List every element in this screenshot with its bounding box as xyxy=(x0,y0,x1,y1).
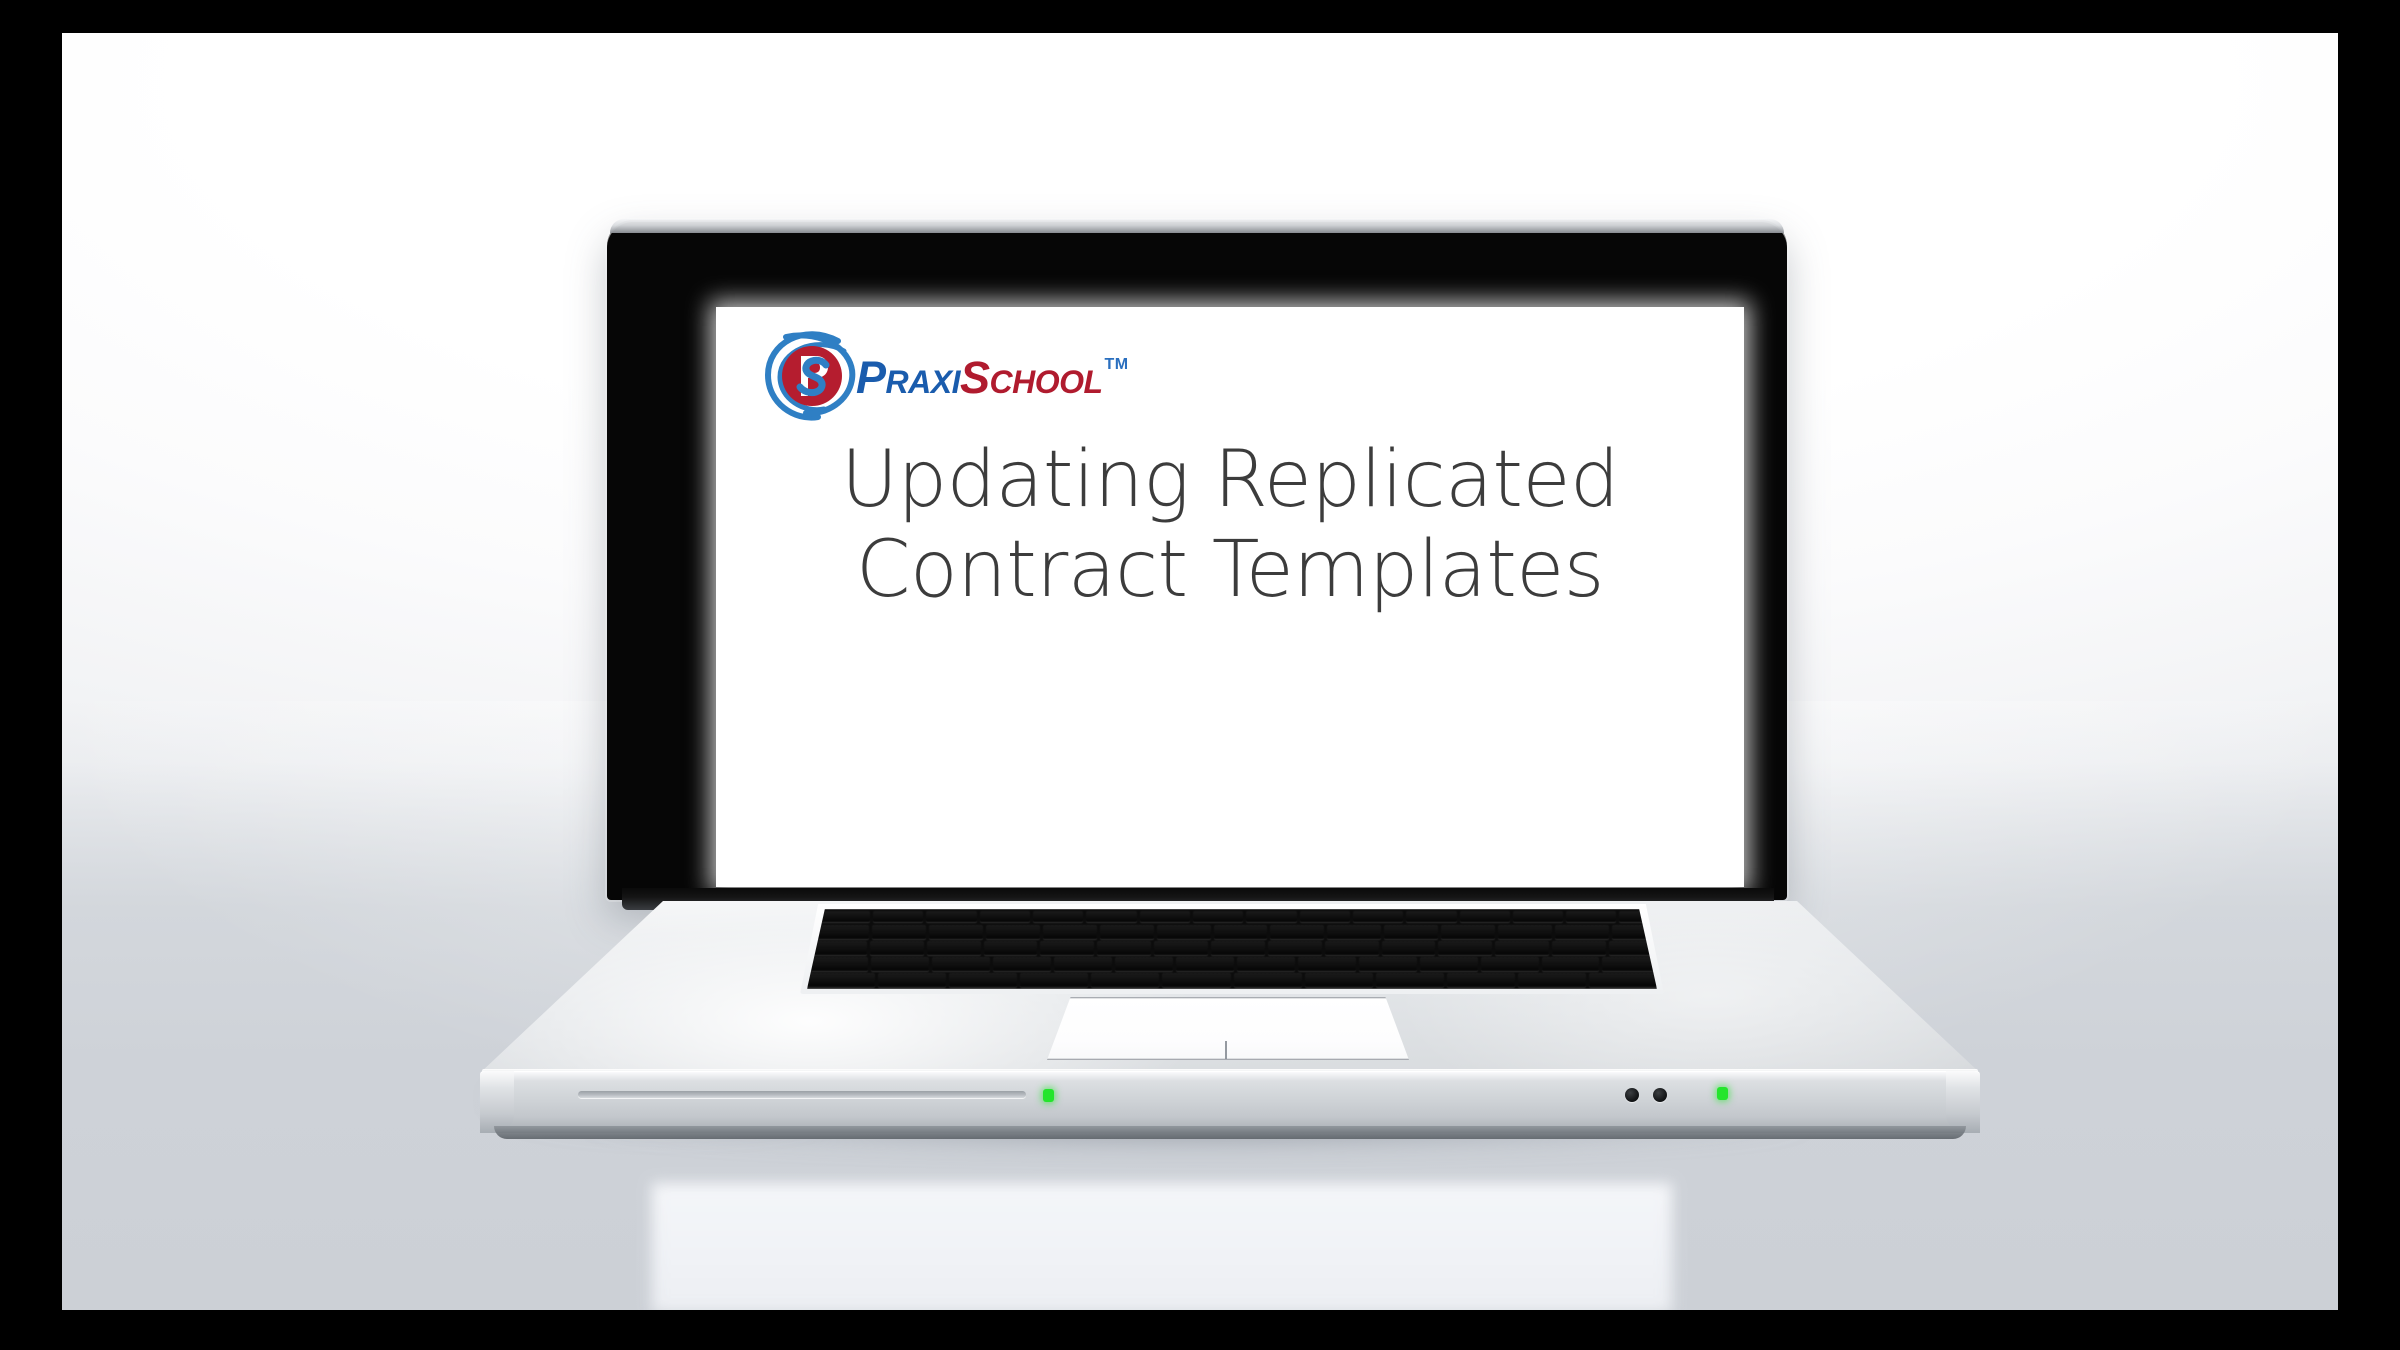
keyboard-key xyxy=(1353,911,1403,922)
keyboard-key xyxy=(932,957,990,971)
keyboard-key xyxy=(1566,911,1616,922)
keyboard-row xyxy=(807,911,1683,922)
audio-in-jack xyxy=(1625,1088,1639,1102)
keyboard-key xyxy=(980,911,1030,922)
optical-drive-slot xyxy=(578,1091,1026,1098)
keyboard-key xyxy=(1384,925,1438,939)
keyboard-key xyxy=(1115,957,1173,971)
keyboard-key xyxy=(1270,925,1324,939)
keyboard-key xyxy=(1305,973,1373,987)
keyboard-key xyxy=(984,941,1038,955)
keyboard-key xyxy=(1555,925,1609,939)
keyboard-key xyxy=(873,911,923,922)
keyboard-key xyxy=(1054,957,1112,971)
wordmark-praxi: Praxi xyxy=(856,355,960,400)
keyboard-key xyxy=(1234,973,1302,987)
slide-title-line-2: Contract Templates xyxy=(742,525,1718,615)
keyboard-key xyxy=(1193,911,1243,922)
keyboard-key xyxy=(1447,973,1515,987)
laptop-device: PraxiSchoolTM Updating Replicated Contra… xyxy=(62,33,2338,1310)
keyboard-key xyxy=(1020,973,1088,987)
keyboard-key xyxy=(807,973,875,987)
keyboard-key xyxy=(1498,925,1552,939)
keyboard-key xyxy=(1589,973,1657,987)
wordmark-school: School xyxy=(960,355,1103,400)
sleep-indicator-led xyxy=(1043,1089,1054,1102)
chassis-underside xyxy=(494,1126,1966,1139)
keyboard-key xyxy=(1162,973,1230,987)
keyboard-key xyxy=(1300,911,1350,922)
keyboard-key xyxy=(986,925,1040,939)
laptop-front-edge xyxy=(480,1071,1980,1133)
keyboard-key xyxy=(1420,957,1478,971)
keyboard-row xyxy=(807,925,1674,939)
keyboard-key xyxy=(1097,941,1151,955)
trademark-mark: TM xyxy=(1105,357,1129,373)
keyboard-key xyxy=(820,911,870,922)
keyboard-key xyxy=(927,941,981,955)
keyboard-key xyxy=(1176,957,1234,971)
keyboard-key xyxy=(1091,973,1159,987)
keyboard-key xyxy=(1268,941,1322,955)
keyboard-key xyxy=(993,957,1051,971)
lid-top-rim xyxy=(610,219,1784,233)
keyboard-row xyxy=(807,941,1669,955)
keyboard-key xyxy=(871,957,929,971)
keyboard-key xyxy=(816,925,870,939)
keyboard-key xyxy=(878,973,946,987)
laptop-trackpad[interactable] xyxy=(1047,997,1409,1060)
product-scene: PraxiSchoolTM Updating Replicated Contra… xyxy=(62,33,2338,1310)
keyboard-key xyxy=(813,941,867,955)
audio-out-jack xyxy=(1653,1088,1667,1102)
laptop-screen[interactable]: PraxiSchoolTM Updating Replicated Contra… xyxy=(716,307,1744,887)
keyboard-key xyxy=(1298,957,1356,971)
keyboard-key xyxy=(1211,941,1265,955)
slide-title-line-1: Updating Replicated xyxy=(742,435,1718,525)
laptop-keyboard[interactable] xyxy=(807,909,1657,989)
keyboard-key xyxy=(810,957,868,971)
keyboard-key xyxy=(1214,925,1268,939)
keyboard-key xyxy=(870,941,924,955)
keyboard-key xyxy=(872,925,926,939)
trackpad-click-notch xyxy=(1225,1041,1227,1059)
keyboard-row xyxy=(807,957,1664,971)
keyboard-key xyxy=(1481,957,1539,971)
keyboard-key xyxy=(1100,925,1154,939)
keyboard-key xyxy=(1382,941,1436,955)
chassis-corner-right xyxy=(1946,1071,1980,1133)
keyboard-key xyxy=(1518,973,1586,987)
keyboard-key xyxy=(1154,941,1208,955)
keyboard-key xyxy=(1140,911,1190,922)
praxischool-logo: PraxiSchoolTM xyxy=(760,325,1129,429)
keyboard-key xyxy=(1327,925,1381,939)
keyboard-key xyxy=(1086,911,1136,922)
keyboard-key xyxy=(1460,911,1510,922)
ps-monogram-emblem-icon xyxy=(760,325,864,429)
keyboard-key xyxy=(1246,911,1296,922)
letterbox-frame: PraxiSchoolTM Updating Replicated Contra… xyxy=(0,0,2400,1350)
keyboard-key xyxy=(1040,941,1094,955)
keyboard-key xyxy=(1043,925,1097,939)
keyboard-key xyxy=(1495,941,1549,955)
chassis-corner-left xyxy=(480,1071,514,1133)
keyboard-key xyxy=(1513,911,1563,922)
slide-title: Updating Replicated Contract Templates xyxy=(716,435,1744,616)
keyboard-key xyxy=(929,925,983,939)
keyboard-key xyxy=(1157,925,1211,939)
keyboard-key xyxy=(926,911,976,922)
presentation-slide: PraxiSchoolTM Updating Replicated Contra… xyxy=(716,307,1744,887)
keyboard-key xyxy=(1438,941,1492,955)
keyboard-key xyxy=(1237,957,1295,971)
keyboard-key xyxy=(1359,957,1417,971)
keyboard-key xyxy=(1406,911,1456,922)
power-indicator-led xyxy=(1717,1087,1728,1100)
praxischool-wordmark: PraxiSchoolTM xyxy=(856,355,1129,400)
keyboard-key xyxy=(949,973,1017,987)
keyboard-key xyxy=(1441,925,1495,939)
keyboard-key xyxy=(1325,941,1379,955)
keyboard-key xyxy=(1542,957,1600,971)
keyboard-key xyxy=(1552,941,1606,955)
keyboard-key xyxy=(1033,911,1083,922)
keyboard-key xyxy=(1376,973,1444,987)
keyboard-row xyxy=(807,973,1657,987)
